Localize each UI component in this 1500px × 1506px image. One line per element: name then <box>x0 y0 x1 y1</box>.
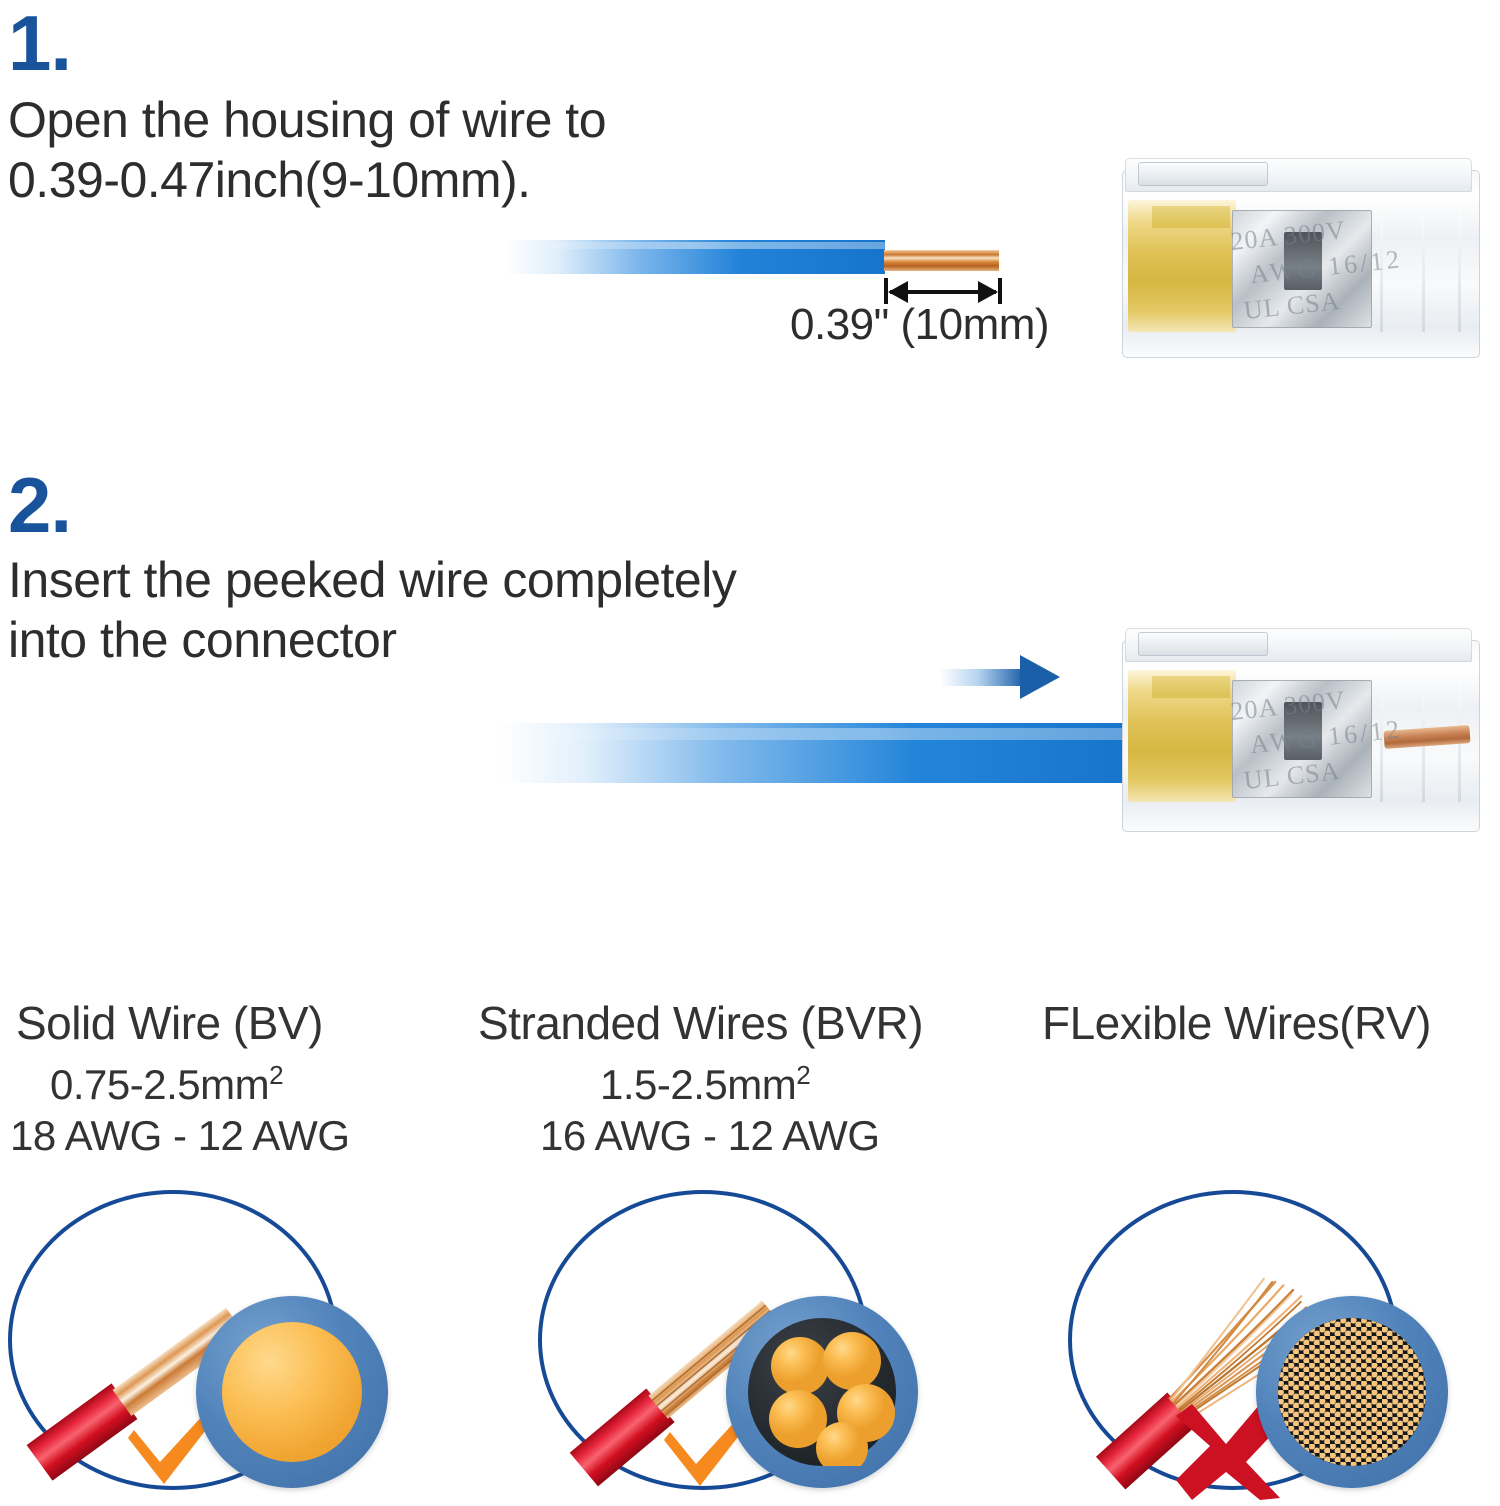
wire-type-area-solid: 0.75-2.5mm2 <box>50 1060 283 1109</box>
wire-illustration-stranded <box>530 1190 1000 1490</box>
step-2-number: 2. <box>8 470 71 540</box>
area-value: 1.5-2.5mm <box>600 1061 796 1108</box>
fine-strands-fill <box>1278 1318 1426 1466</box>
insertion-direction-arrow-icon <box>940 655 1060 699</box>
connector-metal-slot <box>1284 702 1322 760</box>
connector-metal-contact <box>1232 680 1372 798</box>
cross-section-outer-ring <box>726 1296 918 1488</box>
connector-yellow-block <box>1128 670 1236 802</box>
area-value: 0.75-2.5mm <box>50 1061 269 1108</box>
wire-illustration-solid <box>0 1190 470 1490</box>
connector-rib-1 <box>1380 198 1383 332</box>
wire-type-awg-stranded: 16 AWG - 12 AWG <box>540 1112 880 1160</box>
step-1-instruction-text: Open the housing of wire to 0.39-0.47inc… <box>8 90 606 210</box>
instruction-infographic: 1. Open the housing of wire to 0.39-0.47… <box>0 0 1500 1500</box>
cross-section-insulation-fill <box>748 1318 896 1466</box>
connector-rib-3 <box>1458 198 1461 332</box>
strand-2 <box>823 1332 881 1390</box>
cross-section-outer-ring <box>196 1296 388 1488</box>
connector-lever-tab <box>1138 632 1268 656</box>
cross-section-outer-ring <box>1256 1296 1448 1488</box>
wire-type-awg-solid: 18 AWG - 12 AWG <box>10 1112 350 1160</box>
strand-circles-group <box>748 1318 896 1466</box>
step-1-number: 1. <box>8 8 71 78</box>
connector-rib-1 <box>1380 668 1383 802</box>
cross-section-fine-strand-fill <box>1278 1318 1426 1466</box>
connector-lever-tab <box>1138 162 1268 186</box>
arrow-shaft <box>940 669 1024 686</box>
connector-yellow-highlight <box>1152 676 1230 698</box>
wire-connector-step-2: 20A 300V AWG 16/12 UL CSA <box>1122 622 1480 844</box>
wire-connector-step-1: 20A 300V AWG 16/12 UL CSA <box>1122 152 1480 370</box>
step-1-exposed-copper-conductor <box>884 250 999 271</box>
wire-type-title-flexible: FLexible Wires(RV) <box>1042 996 1431 1050</box>
strand-1 <box>771 1337 829 1395</box>
arrow-head-icon <box>1020 655 1060 699</box>
step-1-insulated-wire <box>505 240 885 274</box>
step-2-instruction-text: Insert the peeked wire completely into t… <box>8 550 736 670</box>
connector-yellow-highlight <box>1152 206 1230 228</box>
wire-type-title-stranded: Stranded Wires (BVR) <box>478 996 923 1050</box>
strip-length-label: 0.39" (10mm) <box>790 300 1049 350</box>
wire-type-title-solid: Solid Wire (BV) <box>16 996 323 1050</box>
connector-metal-slot <box>1284 232 1322 290</box>
area-unit-superscript: 2 <box>796 1060 810 1090</box>
wire-type-area-stranded: 1.5-2.5mm2 <box>600 1060 810 1109</box>
cross-section-solid-copper-core <box>222 1322 362 1462</box>
step-2-insulated-wire <box>500 723 1190 783</box>
fine-strand-honeycomb <box>1278 1318 1426 1466</box>
connector-yellow-block <box>1128 200 1236 332</box>
area-unit-superscript: 2 <box>269 1060 283 1090</box>
connector-rib-2 <box>1422 198 1425 332</box>
checkmark-path <box>128 1414 212 1484</box>
connector-metal-contact <box>1232 210 1372 328</box>
wire-illustration-flexible <box>1060 1190 1500 1490</box>
